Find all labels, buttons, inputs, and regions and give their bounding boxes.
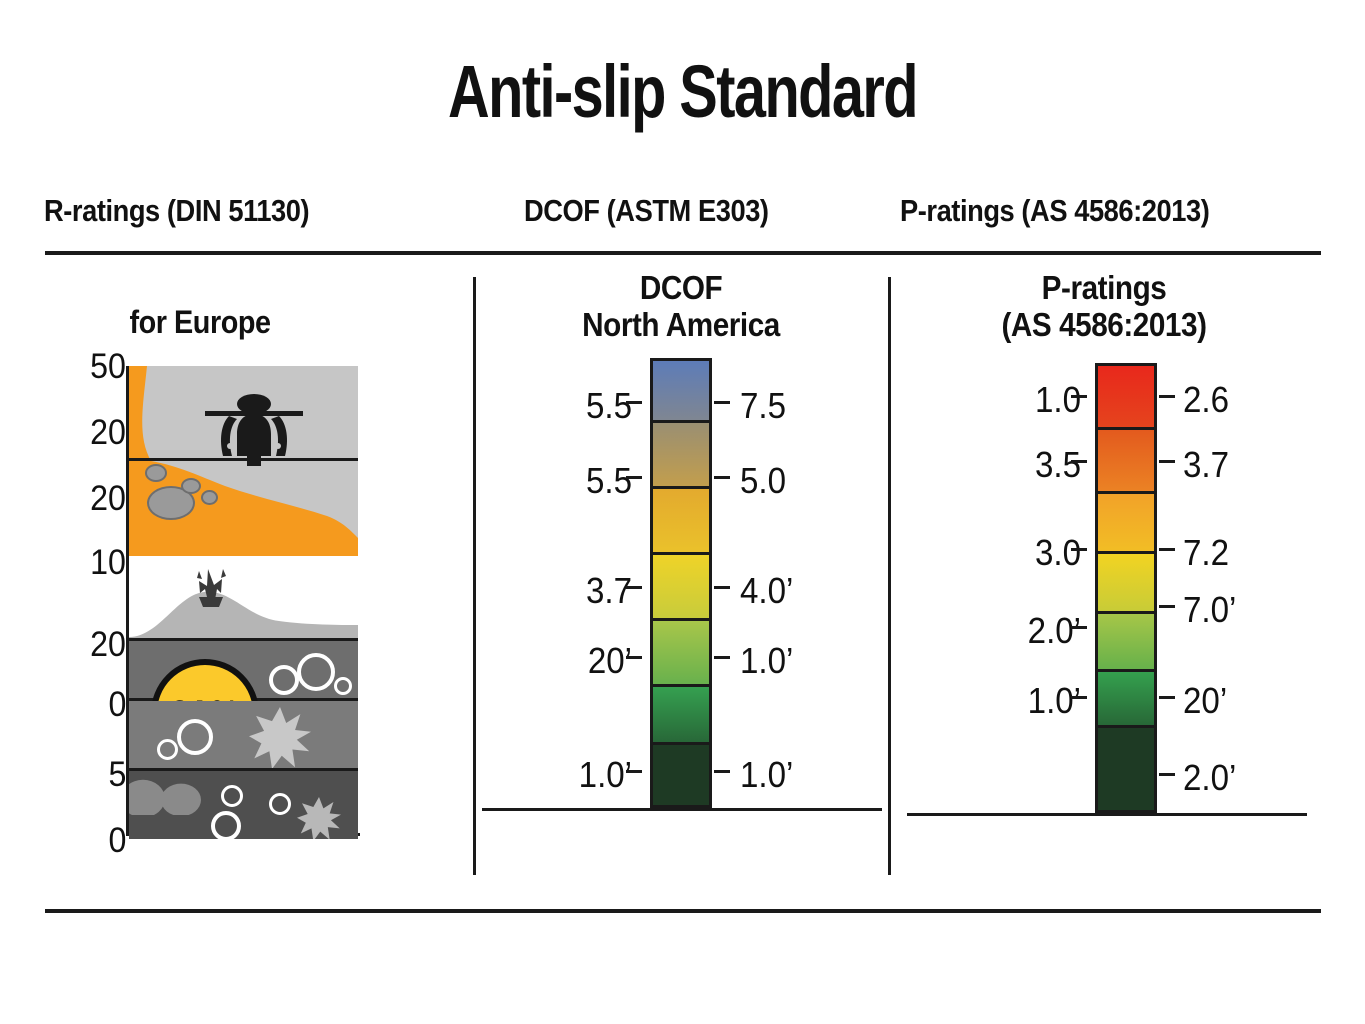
bottom-horizontal-rule: [45, 909, 1321, 913]
europe-tick-0: 50: [90, 349, 126, 384]
p-right-label-1: 2.6: [1183, 382, 1229, 418]
p-right-tick-4: [1159, 605, 1175, 608]
p-right-tick-2: [1159, 460, 1175, 463]
p-right-tick-3: [1159, 548, 1175, 551]
europe-tick-6: 5: [108, 757, 126, 792]
p-right-label-2: 3.7: [1183, 447, 1229, 483]
europe-bubble-4: [177, 719, 213, 755]
dcof-right-tick-1: [714, 401, 730, 404]
dcof-segment-3: [653, 489, 709, 555]
p-left-label-3: 3.0: [1035, 535, 1081, 571]
europe-band-1: 2A%: [129, 638, 358, 701]
europe-band-3: [129, 768, 358, 839]
dcof-left-tick-1: [626, 401, 642, 404]
dcof-segment-5: [653, 621, 709, 687]
p-left-tick-2: [1071, 460, 1087, 463]
badge-2a-percent: 2A%: [151, 659, 259, 701]
dcof-left-tick-5: [626, 770, 642, 773]
column-header-dcof: DCOF (ASTM E303): [524, 193, 769, 229]
europe-dark-mounds: [129, 771, 229, 815]
europe-blob-small-1: [145, 464, 167, 482]
starburst-icon-1: [249, 707, 311, 769]
europe-middle-region: [129, 559, 358, 641]
europe-subtitle: for Europe: [20, 304, 380, 341]
europe-blob-small-2: [181, 478, 201, 494]
dcof-left-label-3: 3.7: [586, 573, 632, 609]
p-left-tick-4: [1071, 626, 1087, 629]
p-left-tick-1: [1071, 395, 1087, 398]
europe-band-2: [129, 698, 358, 771]
p-right-label-5: 20’: [1183, 683, 1227, 719]
panel-dcof: DCOF North America 5.5 5.5 3.7 20’ 1.0’ …: [474, 270, 888, 870]
p-segment-4: [1098, 554, 1154, 614]
europe-bubble-2: [297, 653, 335, 691]
dcof-right-label-1: 7.5: [740, 388, 786, 424]
europe-bubble-6: [221, 785, 243, 807]
europe-tick-4: 20: [90, 627, 126, 662]
column-header-r-ratings: R-ratings (DIN 51130): [44, 193, 309, 229]
dcof-right-tick-3: [714, 586, 730, 589]
dcof-segment-4: [653, 555, 709, 621]
dcof-left-label-4: 20’: [588, 643, 632, 679]
dcof-gradient-bar: [650, 358, 712, 808]
p-left-label-4: 2.0’: [1028, 613, 1081, 649]
p-ratings-title: P-ratings (AS 4586:2013): [911, 270, 1298, 344]
europe-blob-small-3: [201, 490, 218, 505]
gray-mound-shape: [129, 559, 358, 641]
person-figure-icon: [199, 394, 309, 466]
dcof-segment-2: [653, 423, 709, 489]
dcof-right-tick-2: [714, 476, 730, 479]
p-right-tick-1: [1159, 395, 1175, 398]
p-left-label-5: 1.0’: [1028, 683, 1081, 719]
p-right-label-6: 2.0’: [1183, 760, 1236, 796]
dcof-gradient-bar-wrap: [650, 358, 712, 808]
top-horizontal-rule: [45, 251, 1321, 255]
dcof-baseline: [482, 808, 882, 811]
p-segment-5: [1098, 614, 1154, 672]
p-left-tick-3: [1071, 548, 1087, 551]
p-segment-2: [1098, 430, 1154, 494]
starburst-icon-2: [297, 797, 341, 839]
dcof-right-label-2: 5.0: [740, 463, 786, 499]
europe-bubble-3: [334, 677, 352, 695]
p-right-label-4: 7.0’: [1183, 592, 1236, 628]
dcof-segment-1: [653, 361, 709, 423]
europe-upper-region: [129, 366, 358, 556]
dcof-left-tick-2: [626, 476, 642, 479]
sprout-icon: [181, 559, 241, 607]
p-gradient-bar: [1095, 363, 1157, 813]
dcof-segment-7: [653, 745, 709, 808]
p-gradient-bar-wrap: [1095, 363, 1157, 813]
p-left-label-2: 3.5: [1035, 447, 1081, 483]
dcof-right-label-4: 1.0’: [740, 643, 793, 679]
dcof-left-label-1: 5.5: [586, 388, 632, 424]
p-left-tick-5: [1071, 696, 1087, 699]
p-baseline: [907, 813, 1307, 816]
badge-2a-label: 2A%: [171, 694, 239, 702]
europe-bubble-7: [269, 793, 291, 815]
dcof-right-tick-4: [714, 656, 730, 659]
p-right-tick-6: [1159, 773, 1175, 776]
europe-tick-1: 20: [90, 415, 126, 450]
europe-bubble-8: [211, 811, 241, 839]
p-segment-6: [1098, 672, 1154, 728]
column-header-p-ratings: P-ratings (AS 4586:2013): [900, 193, 1209, 229]
dcof-left-tick-3: [626, 586, 642, 589]
dcof-left-label-2: 5.5: [586, 463, 632, 499]
dcof-right-label-5: 1.0’: [740, 757, 793, 793]
p-segment-3: [1098, 494, 1154, 554]
p-segment-1: [1098, 366, 1154, 430]
dcof-title: DCOF North America: [495, 270, 868, 344]
europe-bubble-5: [157, 739, 178, 760]
dcof-right-tick-5: [714, 770, 730, 773]
p-right-tick-5: [1159, 696, 1175, 699]
europe-tick-5: 0: [108, 687, 126, 722]
europe-tick-7: 0: [108, 823, 126, 858]
europe-bubble-1: [269, 665, 299, 695]
dcof-right-label-3: 4.0’: [740, 573, 793, 609]
p-right-label-3: 7.2: [1183, 535, 1229, 571]
europe-tick-2: 20: [90, 481, 126, 516]
panel-r-ratings-europe: for Europe 50 20 20 10 20 0 5 0: [0, 270, 460, 870]
dcof-left-label-5: 1.0’: [579, 757, 632, 793]
europe-tick-3: 10: [90, 545, 126, 580]
dcof-left-tick-4: [626, 656, 642, 659]
panel-p-ratings: P-ratings (AS 4586:2013) 1.0 3.5 3.0 2.0…: [889, 270, 1319, 870]
p-left-label-1: 1.0: [1035, 382, 1081, 418]
europe-axis-labels: 50 20 20 10 20 0 5 0: [80, 355, 128, 835]
page-title: Anti-slip Standard: [150, 55, 1215, 129]
dcof-segment-6: [653, 687, 709, 745]
p-segment-7: [1098, 728, 1154, 813]
